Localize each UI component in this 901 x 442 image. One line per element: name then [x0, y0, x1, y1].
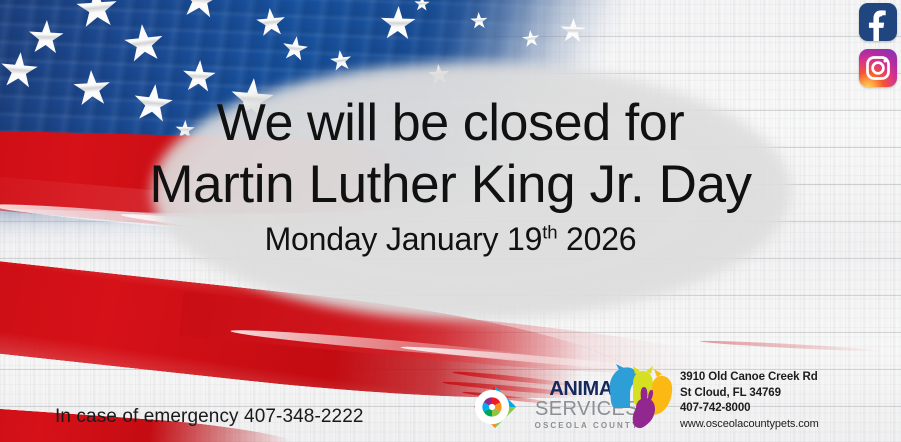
contact-city-state-zip: St Cloud, FL 34769 [680, 386, 819, 402]
headline-line-1: We will be closed for [0, 92, 901, 154]
emergency-contact-text: In case of emergency 407-348-2222 [55, 406, 364, 428]
social-icons-group [859, 3, 897, 87]
facebook-icon[interactable] [859, 3, 897, 41]
contact-phone: 407-742-8000 [680, 401, 819, 417]
animal-silhouettes-icon [600, 364, 678, 438]
headline-date-line: Monday January 19th 2026 [0, 216, 901, 262]
contact-street: 3910 Old Canoe Creek Rd [680, 370, 819, 386]
headline-text-block: We will be closed for Martin Luther King… [0, 92, 901, 262]
contact-website[interactable]: www.osceolacountypets.com [680, 417, 819, 433]
closure-notice-banner: We will be closed for Martin Luther King… [0, 0, 901, 442]
pinwheel-badge-icon [472, 384, 518, 430]
headline-line-2: Martin Luther King Jr. Day [0, 154, 901, 216]
instagram-icon[interactable] [859, 49, 897, 87]
date-year: 2026 [557, 221, 636, 257]
date-ordinal-suffix: th [542, 221, 557, 242]
contact-info-block: 3910 Old Canoe Creek Rd St Cloud, FL 347… [680, 370, 819, 432]
date-prefix: Monday January 19 [265, 221, 543, 257]
